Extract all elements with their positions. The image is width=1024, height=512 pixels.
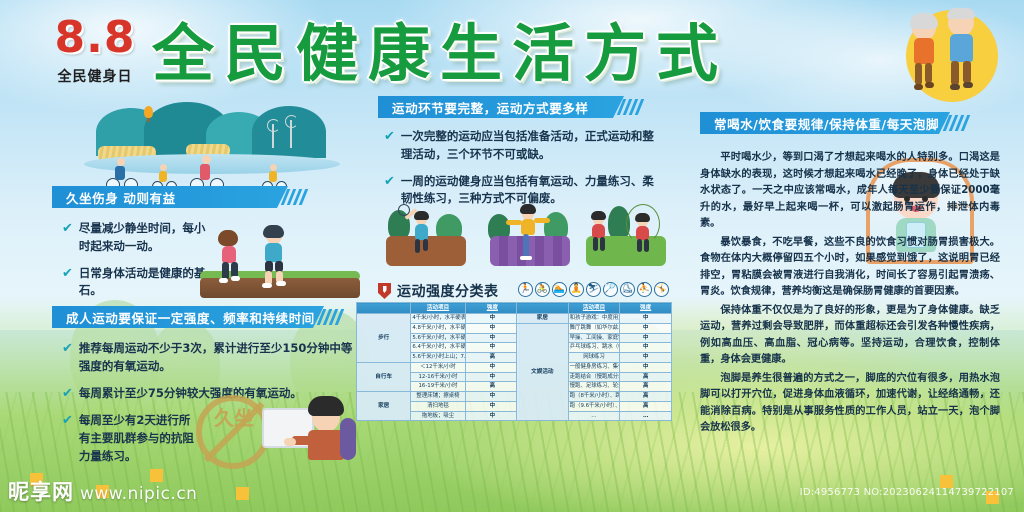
bullet-text: 日常身体活动是健康的基石。 [79,265,212,301]
paragraph: 暴饮暴食，不吃早餐，这些不良的饮食习惯对肠胃损害极大。食物在体内大概停留四五个小… [700,235,1000,301]
countryside-cycling-illustration [66,100,356,192]
activity-cell: 乒乓球练习、跳水（中等用力）、太极拳 [568,343,620,353]
activity-cell: 6.4千米/小时，水平硬表面；0.5-7千克负重上楼 [411,343,465,353]
activity-cell: 4千米/小时，水平硬表面；下楼；下山 [411,314,465,324]
ribbon-slashes [320,309,341,325]
skier-icon: ⛷ [586,282,601,297]
level-cell: 中 [465,372,519,382]
paragraph: 平时喝水少，等到口渴了才想起来喝水的人特别多。口渴这是身体缺水的表现，这时候才想… [700,150,1000,233]
elderly-couple-jogging-icon [886,2,1016,108]
level-cell: 中 [465,333,519,343]
column-header-level: 强度 [620,303,672,314]
level-cell: 中 [465,411,519,421]
level-cell: 高 [465,382,519,392]
level-cell: … [620,411,672,421]
activity-cell: ＜12千米/小时 [411,362,465,372]
intensity-table-title: 运动强度分类表 [378,281,499,301]
two-runners-illustration [200,228,360,298]
level-cell: 中 [620,333,672,343]
watermark-logo: 昵享网 [8,476,74,506]
level-cell: 中 [620,343,672,353]
cyclist-icon: 🚴 [535,282,550,297]
page-title: 全民健康生活方式 [152,14,872,94]
level-cell: 中 [620,353,672,363]
level-cell: 中 [620,323,672,333]
sport-icons-row: 🏃 🚴 🏊 🧘 ⛷ 🏸 ⛸ ⛹ 🤸 [518,282,669,297]
activity-cell: 整理床铺；擦桌椅 [411,392,465,402]
level-cell: 高 [620,382,672,392]
activity-cell: 跑（8千米/小时）、跳绳子（慢）、游泳、滑冰 [568,392,620,402]
level-cell: 中 [465,362,519,372]
table-corner-cell [357,303,411,314]
activity-cell: … [568,411,620,421]
skater-icon: ⛸ [620,282,635,297]
intensity-table-right: 活动项目 强度 家居 和孩子游戏：中度用力（走/跑） 中 文娱活动 舞厅跳舞（如… [516,302,672,421]
paragraph: 泡脚是养生很普遍的方式之一，脚底的穴位有很多，用热水泡脚可以打开穴位，促进身体血… [700,371,1000,437]
category-household: 家居 [357,392,411,421]
left-section1-heading-text: 久坐伤身 动则有益 [52,186,288,208]
swimmer-icon: 🏊 [552,282,567,297]
level-cell: 高 [620,401,672,411]
check-icon: ✔ [384,128,395,164]
ribbon-slashes [946,115,967,131]
table-row: 家居 整理床铺；擦桌椅 中 [357,392,520,402]
date-number: 8.8 [40,16,150,60]
badminton-player-illustration [382,196,470,268]
badminton-icon: 🏸 [603,282,618,297]
runner-icon: 🏃 [518,282,533,297]
list-item: ✔ 一次完整的运动应当包括准备活动，正式运动和整理活动，三个环节不可或缺。 [384,128,656,164]
activity-cell: 和孩子游戏：中度用力（走/跑） [568,314,620,324]
activity-cell: 跑（9.6千米/小时）、跳绳（中速） [568,401,620,411]
poster-canvas: 8.8 全民健身日 全民健康生活方式 [0,0,1024,512]
level-cell: 中 [620,362,672,372]
level-cell: 高 [620,392,672,402]
level-cell: 中 [465,343,519,353]
table-row: 自行车 ＜12千米/小时 中 [357,362,520,372]
right-column-body: 平时喝水少，等到口渴了才想起来喝水的人特别多。口渴这是身体缺水的表现，这时候才想… [700,150,1000,439]
level-cell: 高 [620,372,672,382]
bullet-text: 一次完整的运动应当包括准备活动，正式运动和整理活动，三个环节不可或缺。 [401,128,656,164]
left-section1-bullets: ✔ 尽量减少静坐时间，每小时起来动一动。 ✔ 日常身体活动是健康的基石。 [62,220,212,309]
activity-cell: 16-19千米/小时 [411,382,465,392]
taichi-icon: 🧘 [569,282,584,297]
shield-icon [378,283,391,299]
left-section2-heading-text: 成人运动要保证一定强度、频率和持续时间 [52,306,324,328]
level-cell: 中 [465,314,519,324]
column-header-activity: 活动项目 [568,303,620,314]
ribbon-slashes [284,189,305,205]
activity-cell: 早操、工间操、家庭锻炼 [568,333,620,343]
activity-cell: 网球练习 [568,353,620,363]
jogger-icon: 🤸 [654,282,669,297]
watermark-url: www.nipic.cn [80,484,197,504]
health-day-date-badge: 8.8 全民健身日 [40,16,150,86]
category-walking: 步行 [357,314,411,363]
intensity-table-left: 活动项目 强度 步行 4千米/小时，水平硬表面；下楼；下山 中 4.8千米/小时… [356,302,520,421]
table-corner-cell [517,303,569,314]
watermark: 昵享网 www.nipic.cn [8,476,197,506]
bullet-text: 尽量减少静坐时间，每小时起来动一动。 [79,220,212,256]
column-header-activity: 活动项目 [411,303,465,314]
level-cell: 中 [465,392,519,402]
paragraph: 保持体重不仅仅是为了良好的形象，更是为了身体健康。缺乏运动，营养过剩会导致肥胖，… [700,303,1000,369]
category-bicycle: 自行车 [357,362,411,391]
table-row: 文娱活动 舞厅跳舞（如华尔兹、狐步、慢速舞蹈）、排球练习 中 [517,323,672,333]
bullet-text: 每周至少有2天进行所有主要肌群参与的抗阻力量练习。 [79,412,194,465]
activity-cell: 4.8千米/小时，水平硬表面 [411,323,465,333]
level-cell: 中 [465,401,519,411]
watermark-id: ID:4956773 NO:20230624114739722107 [800,487,1014,498]
activity-cell: 一般健身房练习、集体舞、起障 [568,362,620,372]
activity-cell: 舞厅跳舞（如华尔兹、狐步、慢速舞蹈）、排球练习 [568,323,620,333]
list-item: ✔ 每周至少有2天进行所有主要肌群参与的抗阻力量练习。 [62,412,194,465]
table-header-row: 活动项目 强度 [357,303,520,314]
level-cell: 中 [620,314,672,324]
table-row: 家居 和孩子游戏：中度用力（走/跑） 中 [517,314,672,324]
check-icon: ✔ [62,412,73,465]
activity-cell: 清扫地毯 [411,401,465,411]
check-icon: ✔ [62,220,73,256]
list-item: ✔ 日常身体活动是健康的基石。 [62,265,212,301]
category-recreation: 文娱活动 [517,323,569,421]
date-label: 全民健身日 [40,66,150,86]
man-at-computer-desk-illustration [262,390,362,474]
list-item: ✔ 推荐每周运动不少于3次，累计进行至少150分钟中等强度的有氧运动。 [62,340,358,376]
activity-cell: 12-16千米/小时 [411,372,465,382]
middle-section1-heading-text: 运动环节要完整，运动方式要多样 [378,96,624,118]
activity-cell: 走跑结合（慢跑成分少于10分钟）、篮球练习 [568,372,620,382]
table-header-row: 活动项目 强度 [517,303,672,314]
level-cell: 中 [465,323,519,333]
activity-cell: 拖地板；吸尘 [411,411,465,421]
list-item: ✔ 尽量减少静坐时间，每小时起来动一动。 [62,220,212,256]
intensity-table-title-text: 运动强度分类表 [397,281,499,301]
category-household: 家居 [517,314,569,324]
right-section-heading-text: 常喝水/饮食要规律/保持体重/每天泡脚 [700,112,950,134]
activity-cell: 慢跑、足球练习、轮滑旱冰 [568,382,620,392]
ribbon-slashes [620,99,641,115]
jump-rope-kids-illustration [582,196,670,268]
daisy-flower [236,487,249,500]
check-icon: ✔ [62,385,73,404]
stretching-woman-illustration [486,196,574,268]
table-row: 步行 4千米/小时，水平硬表面；下楼；下山 中 [357,314,520,324]
level-cell: 高 [465,353,519,363]
check-icon: ✔ [62,340,73,376]
activity-cell: 5.6千米/小时上山；7.5-11千克负重上楼 [411,353,465,363]
basketball-icon: ⛹ [637,282,652,297]
bullet-text: 推荐每周运动不少于3次，累计进行至少150分钟中等强度的有氧运动。 [79,340,358,376]
check-icon: ✔ [62,265,73,301]
activity-cell: 5.6千米/小时，水平硬表面；中慢速上楼 [411,333,465,343]
column-header-level: 强度 [465,303,519,314]
